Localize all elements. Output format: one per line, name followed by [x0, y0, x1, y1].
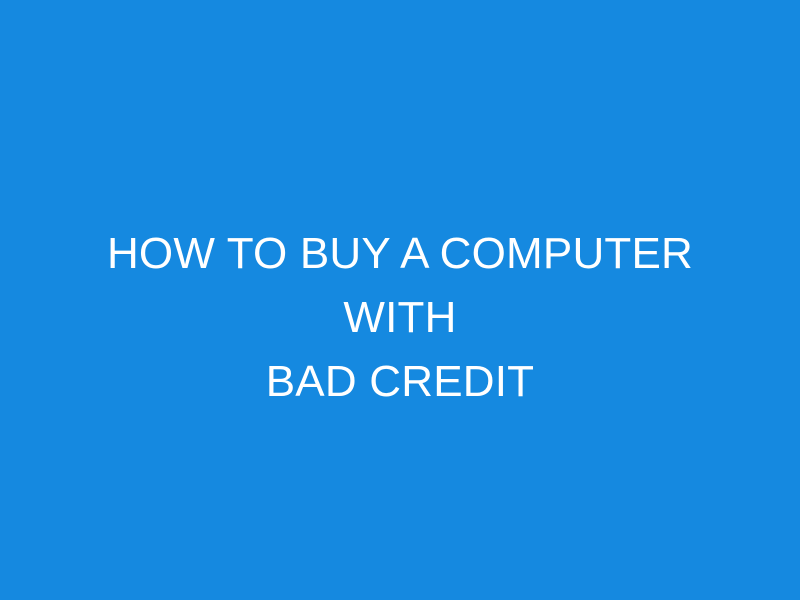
- featured-image-card: HOW TO BUY A COMPUTER WITH BAD CREDIT: [0, 0, 800, 600]
- page-title: HOW TO BUY A COMPUTER WITH BAD CREDIT: [60, 222, 740, 414]
- title-block: HOW TO BUY A COMPUTER WITH BAD CREDIT: [0, 222, 800, 414]
